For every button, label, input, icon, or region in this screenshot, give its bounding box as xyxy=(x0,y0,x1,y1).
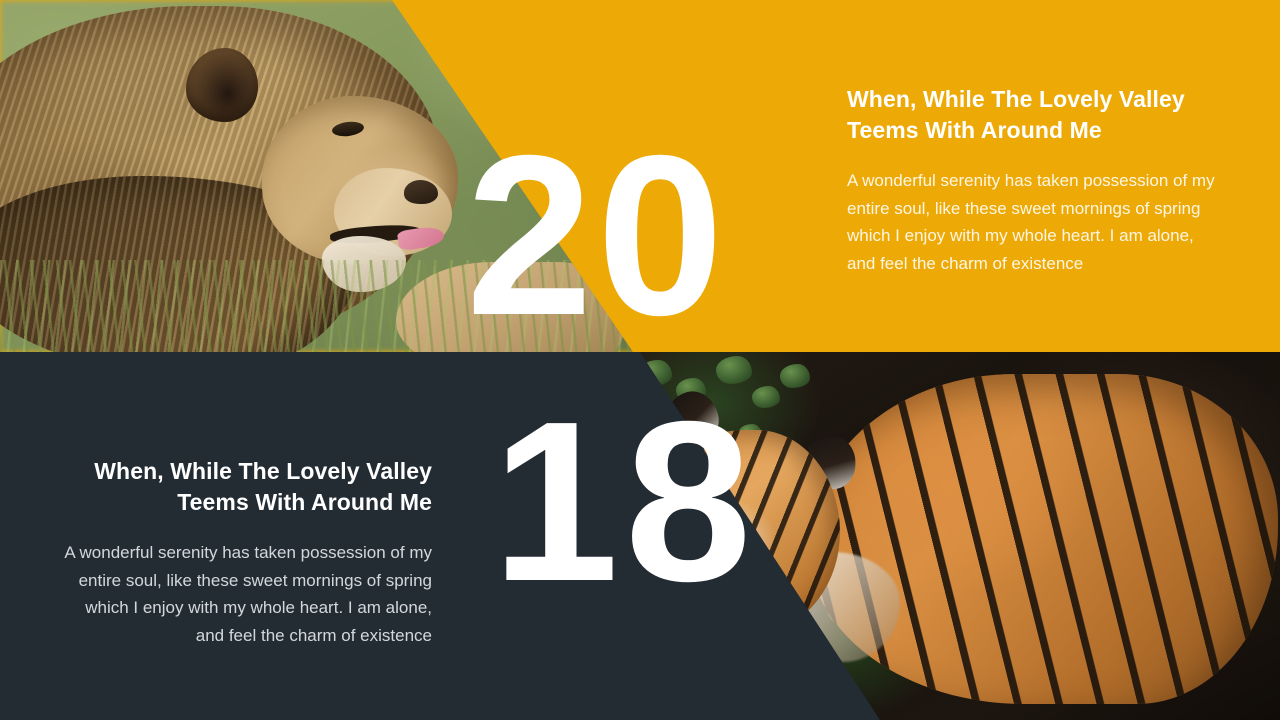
tiger-body xyxy=(808,374,1278,704)
lion-nose xyxy=(404,180,438,204)
top-text-block: When, While The Lovely Valley Teems With… xyxy=(847,84,1219,277)
leaf xyxy=(780,364,810,388)
lion-ear xyxy=(186,48,258,122)
bottom-heading: When, While The Lovely Valley Teems With… xyxy=(60,456,432,517)
bottom-body-text: A wonderful serenity has taken possessio… xyxy=(60,539,432,649)
year-numeral-18: 18 xyxy=(492,388,758,616)
top-heading: When, While The Lovely Valley Teems With… xyxy=(847,84,1219,145)
slide-canvas: When, While The Lovely Valley Teems With… xyxy=(0,0,1280,720)
top-body-text: A wonderful serenity has taken possessio… xyxy=(847,167,1219,277)
bottom-text-block: When, While The Lovely Valley Teems With… xyxy=(60,456,432,649)
year-numeral-20: 20 xyxy=(466,122,728,350)
